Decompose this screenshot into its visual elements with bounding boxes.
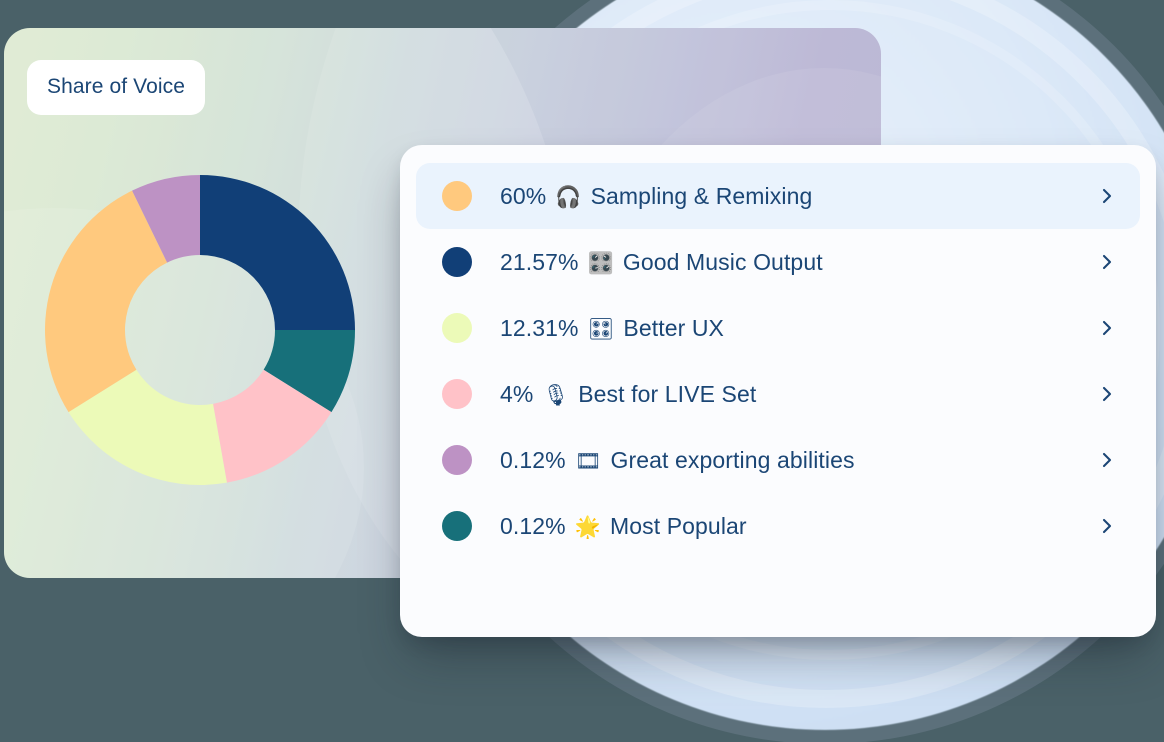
list-item-name: Good Music Output [623, 249, 823, 276]
list-item-percent: 12.31% [500, 315, 579, 342]
list-item-label: 0.12%🎞Great exporting abilities [500, 447, 855, 474]
color-swatch-dot [442, 247, 472, 277]
list-item-name: Most Popular [610, 513, 747, 540]
film-frames-emoji: 🎞 [575, 450, 602, 474]
list-item[interactable]: 12.31%🎛Better UX [416, 295, 1140, 361]
chevron-right-icon[interactable] [1098, 517, 1116, 535]
chevron-right-icon[interactable] [1098, 319, 1116, 337]
glowing-star-emoji: 🌟 [575, 516, 601, 540]
list-rows: 60%🎧Sampling & Remixing21.57%🎛️Good Musi… [416, 163, 1140, 559]
headphone-emoji: 🎧 [555, 186, 581, 210]
list-item-name: Better UX [623, 315, 724, 342]
list-item-name: Best for LIVE Set [578, 381, 756, 408]
list-item-percent: 0.12% [500, 513, 566, 540]
list-item-name: Sampling & Remixing [591, 183, 813, 210]
donut-slice[interactable] [200, 175, 355, 330]
list-item-label: 0.12%🌟Most Popular [500, 513, 747, 540]
page-title: Share of Voice [47, 75, 185, 99]
chevron-right-icon[interactable] [1098, 253, 1116, 271]
color-swatch-dot [442, 181, 472, 211]
donut-chart [45, 175, 355, 485]
list-item[interactable]: 4%🎙Best for LIVE Set [416, 361, 1140, 427]
donut-chart-svg [45, 175, 355, 485]
color-swatch-dot [442, 511, 472, 541]
color-swatch-dot [442, 379, 472, 409]
list-item-percent: 0.12% [500, 447, 566, 474]
list-item-label: 4%🎙Best for LIVE Set [500, 381, 756, 408]
chevron-right-icon[interactable] [1098, 385, 1116, 403]
studio-microphone-emoji: 🎙 [542, 384, 569, 408]
list-item-percent: 60% [500, 183, 546, 210]
share-of-voice-chip: Share of Voice [27, 60, 205, 115]
control-knobs-emoji: 🎛️ [588, 252, 614, 276]
list-item-percent: 21.57% [500, 249, 579, 276]
list-item-label: 12.31%🎛Better UX [500, 315, 724, 342]
list-item[interactable]: 0.12%🌟Most Popular [416, 493, 1140, 559]
list-item-label: 21.57%🎛️Good Music Output [500, 249, 823, 276]
chevron-right-icon[interactable] [1098, 451, 1116, 469]
list-item-name: Great exporting abilities [610, 447, 854, 474]
list-item-percent: 4% [500, 381, 533, 408]
color-swatch-dot [442, 445, 472, 475]
color-swatch-dot [442, 313, 472, 343]
list-item-label: 60%🎧Sampling & Remixing [500, 183, 812, 210]
dial-emoji: 🎛 [588, 318, 615, 342]
list-item[interactable]: 60%🎧Sampling & Remixing [416, 163, 1140, 229]
list-item[interactable]: 21.57%🎛️Good Music Output [416, 229, 1140, 295]
share-of-voice-list-card: 60%🎧Sampling & Remixing21.57%🎛️Good Musi… [400, 145, 1156, 637]
chevron-right-icon[interactable] [1098, 187, 1116, 205]
list-item[interactable]: 0.12%🎞Great exporting abilities [416, 427, 1140, 493]
